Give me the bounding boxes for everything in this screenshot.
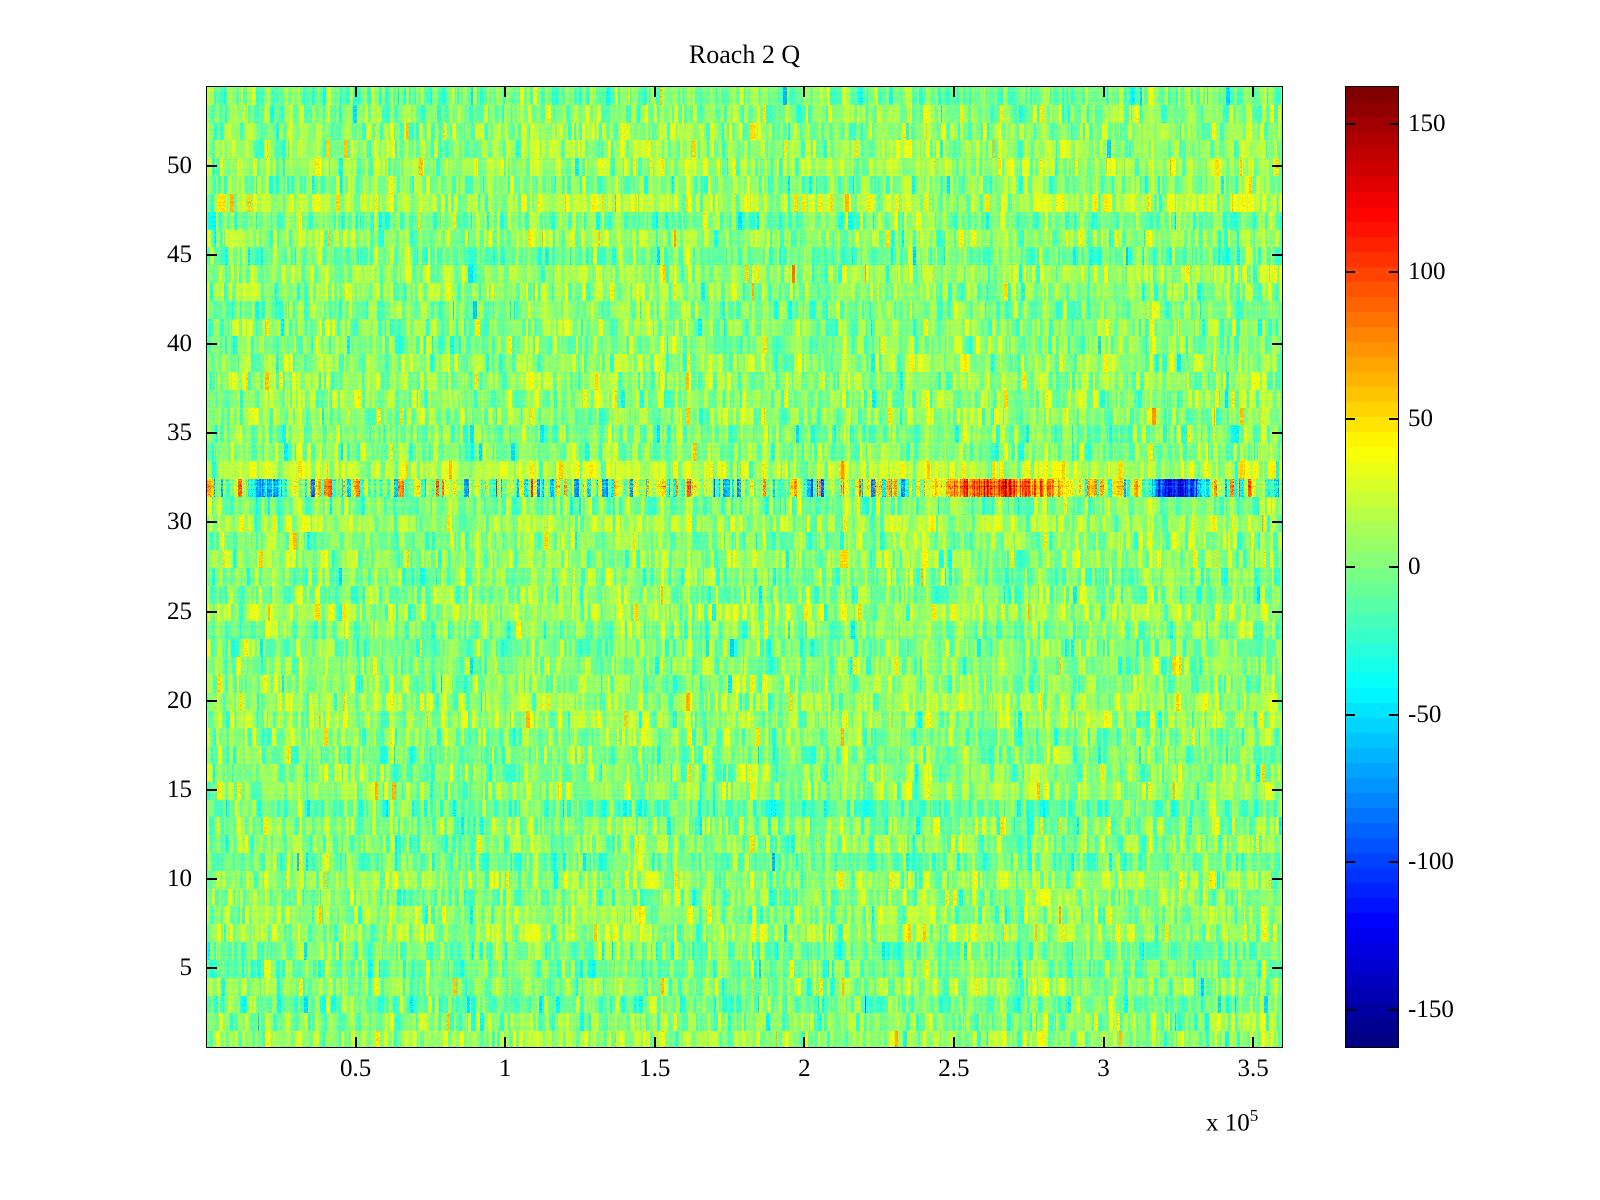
colorbar-tick-label: 100 (1408, 259, 1446, 284)
heatmap-image[interactable] (207, 87, 1283, 1048)
y-tick-mark-right (1272, 521, 1283, 523)
x-axis-exponent-label: x 105 (1206, 1102, 1258, 1137)
x-tick-label: 0.5 (296, 1055, 416, 1083)
x-tick-mark-top (1103, 86, 1105, 97)
y-tick-mark (206, 521, 217, 523)
y-tick-mark-right (1272, 789, 1283, 791)
colorbar-tick-label: 150 (1408, 111, 1446, 136)
y-tick-mark (206, 789, 217, 791)
colorbar-tick-mark (1345, 566, 1355, 568)
x-tick-mark-top (355, 86, 357, 97)
y-tick-label: 40 (112, 331, 192, 356)
y-tick-label: 30 (112, 509, 192, 534)
x-tick-mark (1252, 1037, 1254, 1048)
y-tick-mark (206, 432, 217, 434)
y-tick-mark (206, 165, 217, 167)
y-tick-mark-right (1272, 343, 1283, 345)
x-tick-label: 2 (744, 1055, 864, 1083)
y-tick-mark-right (1272, 254, 1283, 256)
colorbar-tick-mark (1345, 714, 1355, 716)
y-tick-mark (206, 967, 217, 969)
x-tick-mark (504, 1037, 506, 1048)
y-tick-label: 50 (112, 153, 192, 178)
colorbar-tick-mark-right (1389, 123, 1399, 125)
y-tick-mark-right (1272, 700, 1283, 702)
colorbar-tick-mark-right (1389, 714, 1399, 716)
x-tick-label: 3.5 (1193, 1055, 1313, 1083)
y-tick-mark (206, 878, 217, 880)
colorbar-tick-label: -100 (1408, 849, 1454, 874)
y-tick-label: 15 (112, 777, 192, 802)
x-tick-mark-top (1252, 86, 1254, 97)
y-tick-mark-right (1272, 611, 1283, 613)
colorbar-tick-mark (1345, 271, 1355, 273)
x-tick-mark (355, 1037, 357, 1048)
x-tick-mark (1103, 1037, 1105, 1048)
x-tick-label: 2.5 (894, 1055, 1014, 1083)
colorbar-tick-label: -50 (1408, 702, 1441, 727)
figure-canvas: Roach 2 Q 5101520253035404550 0.511.522.… (0, 0, 1600, 1200)
x-tick-mark-top (953, 86, 955, 97)
y-tick-label: 35 (112, 420, 192, 445)
colorbar-tick-mark-right (1389, 861, 1399, 863)
x-tick-label: 3 (1044, 1055, 1164, 1083)
y-tick-mark-right (1272, 165, 1283, 167)
colorbar-tick-mark (1345, 418, 1355, 420)
colorbar-tick-mark (1345, 123, 1355, 125)
x-tick-mark-top (504, 86, 506, 97)
x-tick-mark (654, 1037, 656, 1048)
y-tick-label: 45 (112, 242, 192, 267)
y-tick-mark (206, 254, 217, 256)
y-tick-label: 25 (112, 599, 192, 624)
x-tick-mark-top (654, 86, 656, 97)
y-tick-mark-right (1272, 878, 1283, 880)
x-tick-mark (803, 1037, 805, 1048)
x-tick-label: 1 (445, 1055, 565, 1083)
y-tick-label: 5 (112, 955, 192, 980)
colorbar-tick-mark-right (1389, 418, 1399, 420)
y-tick-mark-right (1272, 432, 1283, 434)
colorbar-tick-mark (1345, 861, 1355, 863)
heatmap-axes[interactable] (206, 86, 1283, 1048)
x-exponent-base: x 10 (1206, 1109, 1250, 1136)
x-tick-label: 1.5 (595, 1055, 715, 1083)
colorbar-tick-label: 0 (1408, 554, 1421, 579)
y-tick-mark (206, 700, 217, 702)
y-tick-mark-right (1272, 967, 1283, 969)
y-tick-label: 20 (112, 688, 192, 713)
y-tick-mark (206, 343, 217, 345)
page-title: Roach 2 Q (206, 40, 1283, 70)
y-tick-label: 10 (112, 866, 192, 891)
colorbar-tick-mark-right (1389, 566, 1399, 568)
colorbar-tick-label: -150 (1408, 997, 1454, 1022)
x-tick-mark-top (803, 86, 805, 97)
colorbar-tick-mark (1345, 1009, 1355, 1011)
x-exponent-power: 5 (1250, 1106, 1259, 1125)
colorbar-tick-label: 50 (1408, 406, 1433, 431)
colorbar-tick-mark-right (1389, 1009, 1399, 1011)
colorbar-tick-mark-right (1389, 271, 1399, 273)
y-tick-mark (206, 611, 217, 613)
x-tick-mark (953, 1037, 955, 1048)
